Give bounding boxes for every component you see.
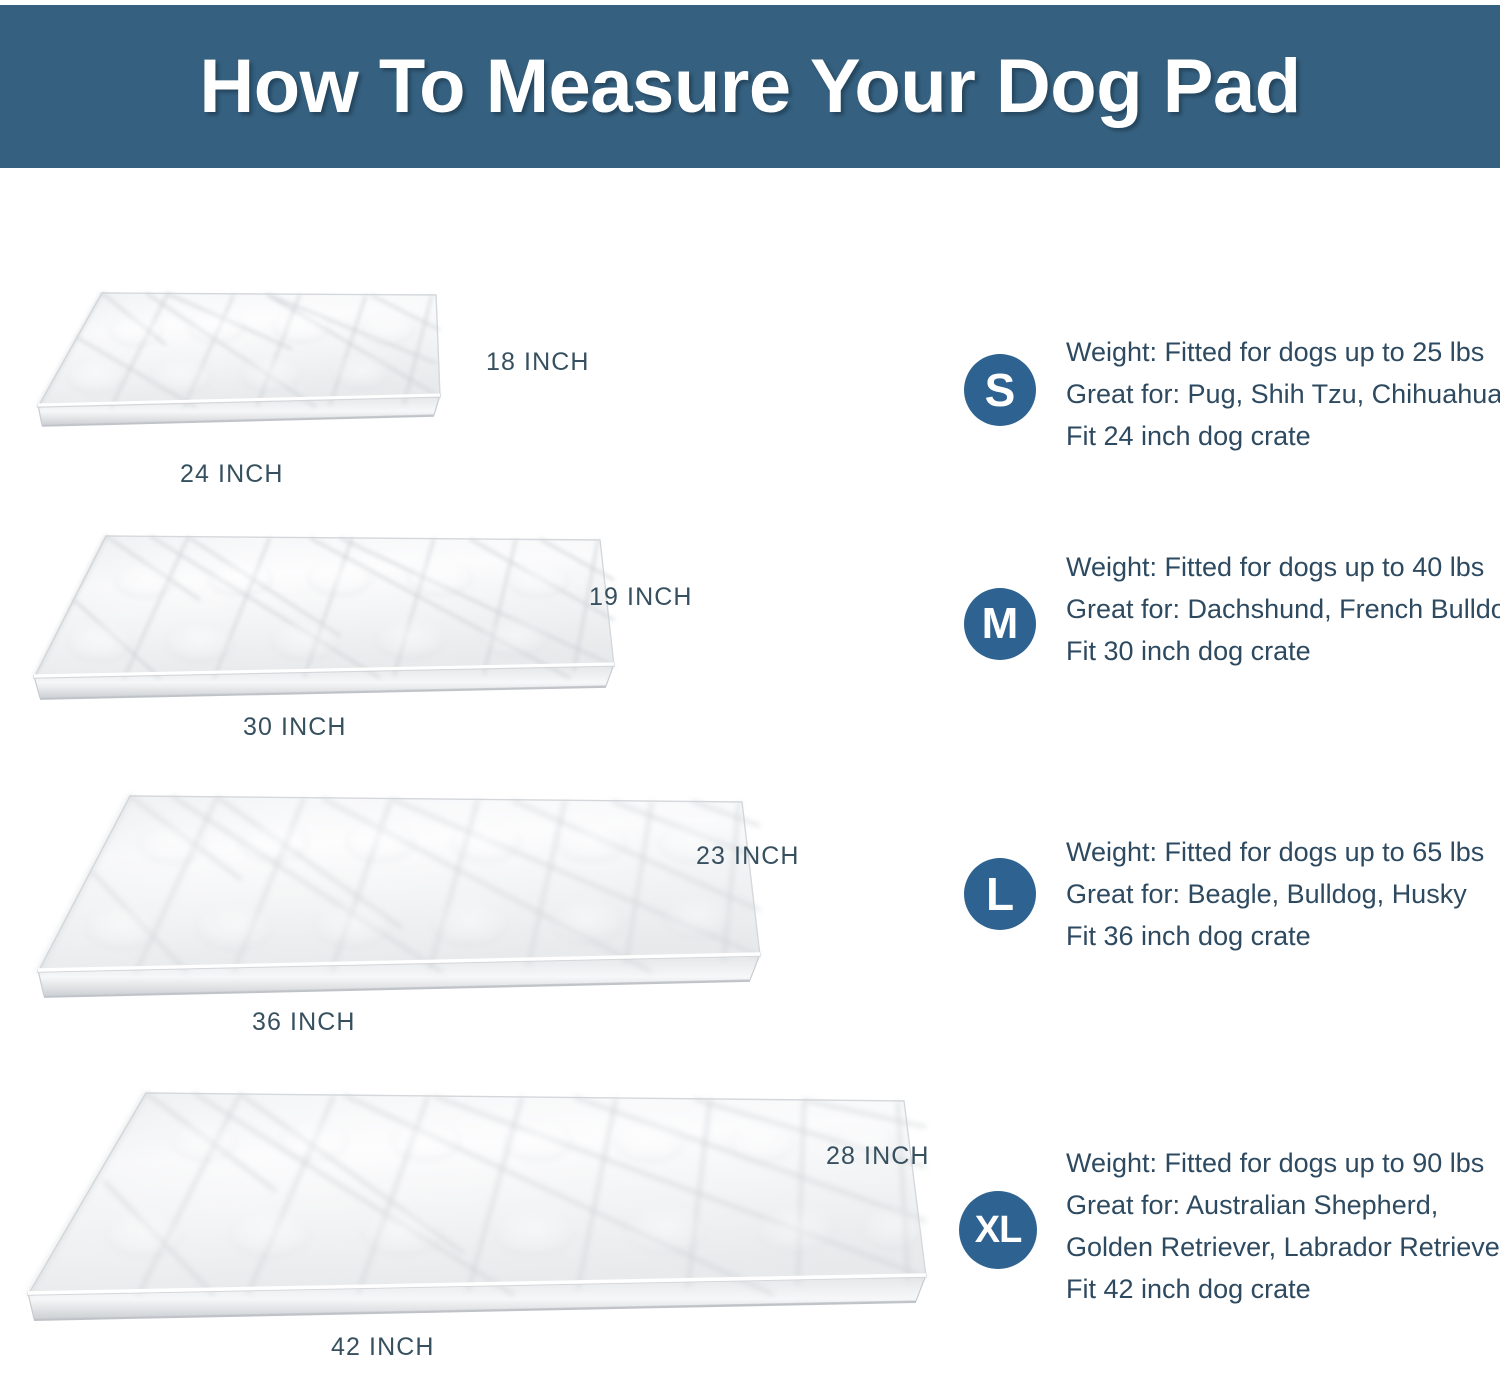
size-line: Great for: Beagle, Bulldog, Husky [1066,873,1484,915]
pad-large-width-label: 36 INCH [252,1008,356,1037]
size-line: Weight: Fitted for dogs up to 25 lbs [1066,331,1500,373]
size-badge-m: M [964,588,1036,660]
size-line: Fit 30 inch dog crate [1066,630,1500,672]
size-badge-xl: XL [959,1191,1037,1269]
header-banner: How To Measure Your Dog Pad [0,5,1500,168]
size-line: Fit 42 inch dog crate [1066,1268,1500,1310]
size-description-s: Weight: Fitted for dogs up to 25 lbs Gre… [1066,331,1500,457]
pad-xlarge-width-label: 42 INCH [331,1333,435,1362]
size-description-l: Weight: Fitted for dogs up to 65 lbs Gre… [1066,831,1484,957]
pad-xlarge-depth-label: 28 INCH [826,1142,930,1171]
pad-large-illustration [12,788,777,1010]
size-line: Weight: Fitted for dogs up to 40 lbs [1066,546,1500,588]
pad-large-depth-label: 23 INCH [696,842,800,871]
size-line: Golden Retriever, Labrador Retriever [1066,1226,1500,1268]
size-badge-s: S [964,354,1036,426]
pad-small-width-label: 24 INCH [180,460,284,489]
pad-medium-width-label: 30 INCH [243,713,347,742]
size-line: Great for: Australian Shepherd, [1066,1184,1500,1226]
pad-medium-illustration [10,528,630,713]
size-description-m: Weight: Fitted for dogs up to 40 lbs Gre… [1066,546,1500,672]
size-line: Great for: Dachshund, French Bulldog [1066,588,1500,630]
pad-xlarge-illustration [14,1085,944,1333]
infographic-page: How To Measure Your Dog Pad [0,0,1500,1373]
page-title: How To Measure Your Dog Pad [199,49,1300,125]
pad-medium-depth-label: 19 INCH [589,583,693,612]
size-line: Fit 36 inch dog crate [1066,915,1484,957]
size-line: Weight: Fitted for dogs up to 65 lbs [1066,831,1484,873]
pad-small-illustration [16,285,466,450]
size-line: Fit 24 inch dog crate [1066,415,1500,457]
size-description-xl: Weight: Fitted for dogs up to 90 lbs Gre… [1066,1142,1500,1310]
size-badge-l: L [964,858,1036,930]
size-line: Weight: Fitted for dogs up to 90 lbs [1066,1142,1500,1184]
pad-small-depth-label: 18 INCH [486,348,590,377]
size-line: Great for: Pug, Shih Tzu, Chihuahua [1066,373,1500,415]
